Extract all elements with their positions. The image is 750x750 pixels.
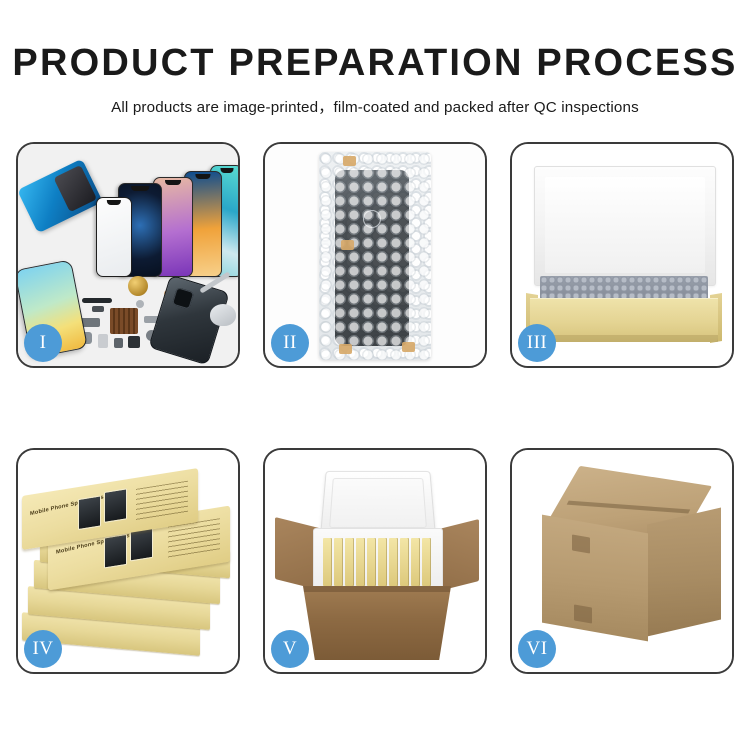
box-print-phone-image <box>78 495 101 530</box>
part-connector-3 <box>98 334 108 348</box>
lcd-screen-loose <box>18 159 103 234</box>
yellow-box <box>367 538 376 586</box>
foam-lid <box>534 166 716 286</box>
hand-tool-icon <box>210 304 236 326</box>
process-step-1: I <box>16 142 240 368</box>
carton-side-face <box>647 507 721 636</box>
process-step-3: III <box>510 142 734 368</box>
open-inner-box <box>526 166 722 348</box>
kraft-box-body <box>530 298 718 342</box>
yellow-box <box>323 538 332 586</box>
process-step-2: II <box>263 142 487 368</box>
box-print-phone-image <box>104 534 127 569</box>
carton-tab <box>572 534 590 553</box>
tape-piece <box>339 344 352 354</box>
page-subtitle: All products are image-printed，film-coat… <box>0 95 750 117</box>
yellow-box <box>422 538 431 586</box>
notch-icon <box>131 186 149 191</box>
carton-tab <box>574 604 592 623</box>
yellow-box <box>345 538 354 586</box>
process-step-5: V <box>263 448 487 674</box>
chip-grid-icon <box>110 308 138 334</box>
bubble-wrapped-screen <box>319 152 431 360</box>
step-badge-1: I <box>24 324 62 362</box>
notch-icon <box>165 180 181 185</box>
part-bar <box>82 298 112 303</box>
coin-part-icon <box>128 276 148 296</box>
part-connector-4 <box>114 338 123 348</box>
process-step-grid: I II <box>16 142 734 674</box>
process-step-6: VI <box>510 448 734 674</box>
step-badge-3: III <box>518 324 556 362</box>
yellow-box <box>356 538 365 586</box>
header: PRODUCT PREPARATION PROCESS All products… <box>0 0 750 117</box>
styrofoam-lid <box>320 471 436 537</box>
step-badge-5: V <box>271 630 309 668</box>
tape-piece <box>343 156 356 166</box>
yellow-box <box>389 538 398 586</box>
notch-icon <box>220 168 233 173</box>
phone-lineup <box>96 162 238 277</box>
phone-1-glass <box>96 197 132 277</box>
yellow-box <box>411 538 420 586</box>
notch-icon <box>107 200 121 205</box>
carton-front-face <box>542 515 648 642</box>
tape-piece <box>341 240 354 250</box>
notch-icon <box>195 174 210 179</box>
box-print-phone-image <box>104 488 127 523</box>
sealed-carton <box>534 476 724 642</box>
carton-with-foam-insert <box>275 468 479 660</box>
process-step-4: Mobile Phone Spare Parts Mobile Phone Sp… <box>16 448 240 674</box>
product-preparation-infographic: PRODUCT PREPARATION PROCESS All products… <box>0 0 750 750</box>
cardboard-carton-body <box>303 586 451 660</box>
yellow-box <box>400 538 409 586</box>
box-print-text-block <box>136 481 188 521</box>
page-title: PRODUCT PREPARATION PROCESS <box>0 44 750 82</box>
step-badge-6: VI <box>518 630 556 668</box>
yellow-box <box>378 538 387 586</box>
part-connector-5 <box>128 336 140 348</box>
yellow-box <box>334 538 343 586</box>
tape-piece <box>402 342 415 352</box>
step-badge-2: II <box>271 324 309 362</box>
part-connector-10 <box>136 300 144 308</box>
bubble-wrap-texture <box>319 152 431 360</box>
part-connector-9 <box>92 306 104 312</box>
packed-yellow-boxes <box>323 538 431 586</box>
step-badge-4: IV <box>24 630 62 668</box>
